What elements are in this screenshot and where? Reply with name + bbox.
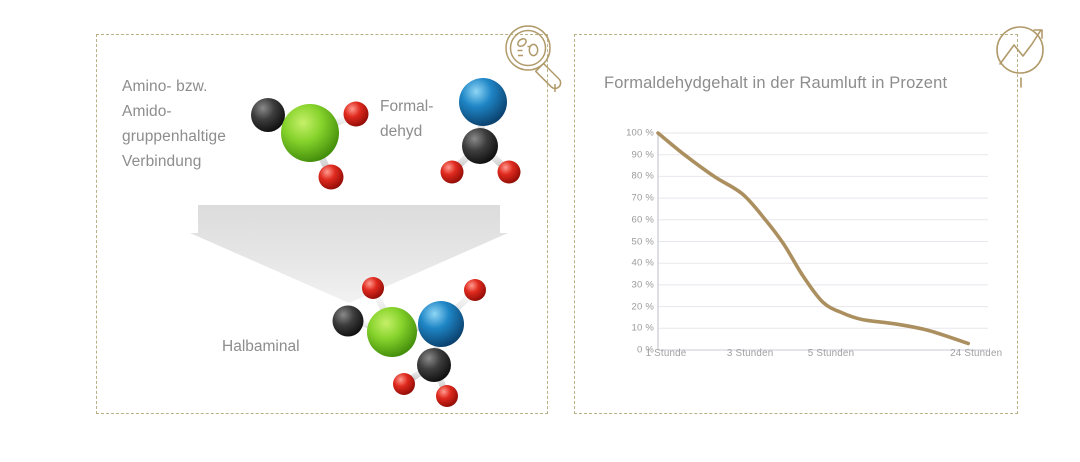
amino-compound-molecule bbox=[238, 82, 388, 200]
screenshot-root: Amino- bzw. Amido- gruppenhaltige Verbin… bbox=[0, 0, 1080, 462]
chart-gridlines bbox=[658, 133, 988, 350]
y-tick-label: 70 % bbox=[608, 193, 654, 204]
y-tick-label: 20 % bbox=[608, 301, 654, 312]
y-axis-tick-labels: 100 %90 %80 %70 %60 %50 %40 %30 %20 %10 … bbox=[598, 120, 654, 370]
y-tick-label: 30 % bbox=[608, 279, 654, 290]
y-tick-label: 40 % bbox=[608, 258, 654, 269]
x-tick-label: 1 Stunde bbox=[646, 348, 687, 359]
data-curve bbox=[658, 133, 968, 343]
x-tick-label: 3 Stunden bbox=[727, 348, 773, 359]
y-tick-label: 50 % bbox=[608, 236, 654, 247]
x-tick-label: 24 Stunden bbox=[950, 348, 1002, 359]
y-tick-label: 100 % bbox=[608, 128, 654, 139]
chart-plot bbox=[598, 120, 998, 370]
x-axis-tick-labels: 1 Stunde3 Stunden5 Stunden24 Stunden bbox=[598, 348, 998, 372]
halbaminal-molecule bbox=[322, 272, 508, 408]
trend-chart-icon bbox=[988, 18, 1062, 92]
chart-title: Formaldehydgehalt in der Raumluft in Pro… bbox=[604, 74, 947, 93]
y-tick-label: 10 % bbox=[608, 323, 654, 334]
formaldehyde-molecule bbox=[428, 68, 538, 194]
y-tick-label: 80 % bbox=[608, 171, 654, 182]
line-chart: 100 %90 %80 %70 %60 %50 %40 %30 %20 %10 … bbox=[598, 120, 998, 370]
x-tick-label: 5 Stunden bbox=[808, 348, 854, 359]
y-tick-label: 60 % bbox=[608, 214, 654, 225]
y-tick-label: 90 % bbox=[608, 149, 654, 160]
product-label: Halbaminal bbox=[222, 338, 300, 356]
